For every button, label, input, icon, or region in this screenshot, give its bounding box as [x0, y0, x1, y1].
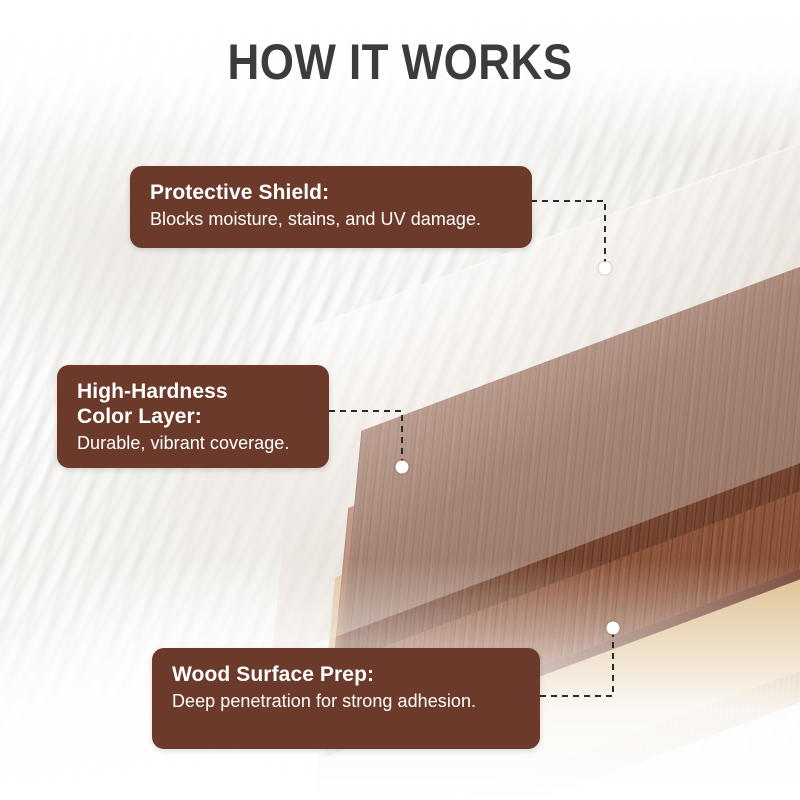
marker-dot-protective-shield: [599, 262, 612, 275]
marker-dot-color-layer: [396, 461, 409, 474]
callout-color-layer: High-Hardness Color Layer: Durable, vibr…: [57, 365, 329, 468]
callout-protective-shield: Protective Shield: Blocks moisture, stai…: [130, 166, 532, 248]
callout-wood-surface-prep-title: Wood Surface Prep:: [172, 662, 522, 687]
marker-dot-wood-surface-prep: [607, 622, 620, 635]
callout-protective-shield-title: Protective Shield:: [150, 180, 514, 205]
page-title: HOW IT WORKS: [48, 34, 752, 90]
callout-color-layer-subtitle: Durable, vibrant coverage.: [77, 432, 311, 455]
callout-wood-surface-prep-subtitle: Deep penetration for strong adhesion.: [172, 690, 522, 713]
callout-color-layer-title: High-Hardness Color Layer:: [77, 379, 311, 429]
callout-protective-shield-subtitle: Blocks moisture, stains, and UV damage.: [150, 208, 514, 231]
infographic-stage: HOW IT WORKS Protective Shield: Blocks m…: [0, 0, 800, 800]
callout-wood-surface-prep: Wood Surface Prep: Deep penetration for …: [152, 648, 540, 749]
